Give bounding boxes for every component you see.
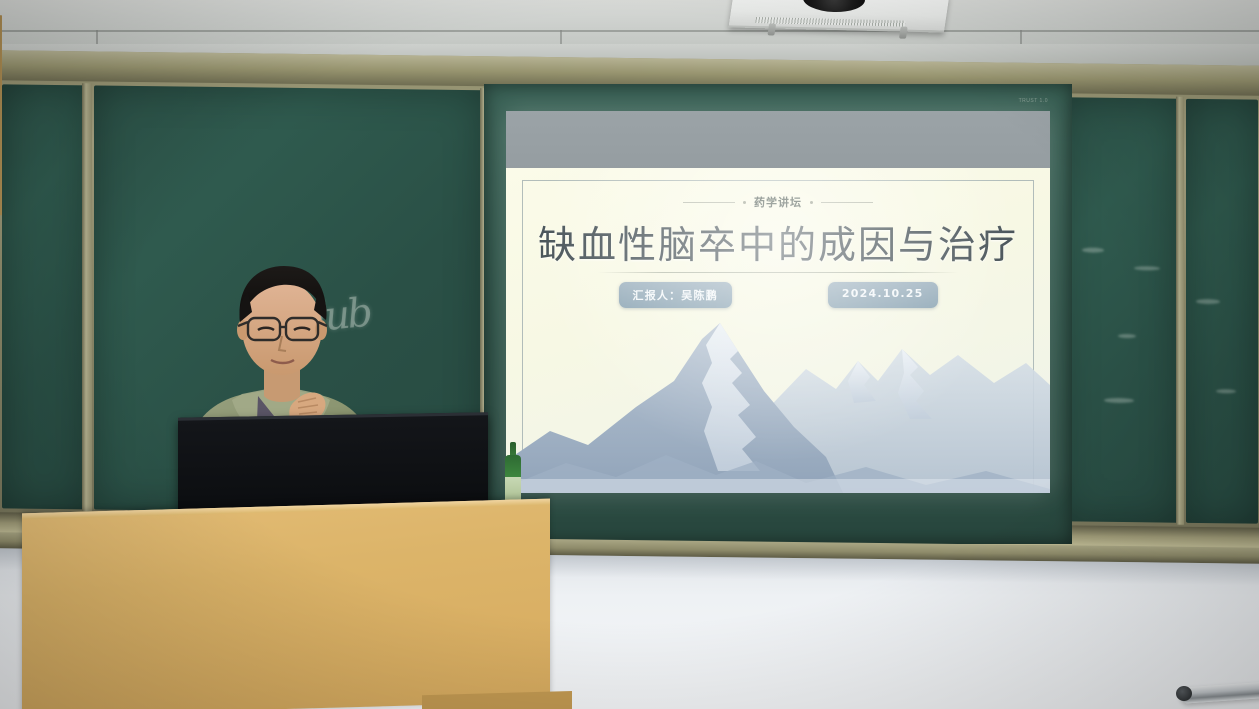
chalk-smudge: [1134, 266, 1160, 270]
blackboard-panel-right: [1060, 97, 1180, 522]
projector-letterbox: [506, 111, 1050, 169]
blackboard-panel-far-right: [1186, 99, 1258, 524]
slide-kicker: 药学讲坛: [506, 194, 1050, 210]
kicker-rule-right: [821, 202, 873, 203]
ceiling: [0, 0, 1259, 48]
presenter-badge: 汇报人：吴陈鹏: [619, 282, 732, 308]
kicker-dot-right: [810, 201, 813, 204]
chalk-smudge: [1104, 398, 1134, 403]
lectern-base: [422, 691, 572, 709]
projector-vent: [755, 17, 905, 27]
slide-badges: 汇报人：吴陈鹏 2024.10.25: [506, 282, 1050, 308]
blackboard-panel-left-narrow: [2, 84, 87, 509]
blackboard-divider: [82, 83, 92, 511]
slide-kicker-text: 药学讲坛: [754, 194, 802, 210]
mountain-illustration: [506, 311, 1050, 493]
lectern[interactable]: [22, 499, 550, 709]
podium-side: [0, 13, 2, 216]
date-badge: 2024.10.25: [828, 282, 938, 308]
projection-surface: 药学讲坛 缺血性脑卒中的成因与治疗 汇报人：吴陈鹏 2024.10.25: [506, 111, 1050, 493]
chalk-smudge: [1118, 334, 1136, 338]
kicker-rule-left: [683, 202, 735, 203]
blackboard-divider: [1176, 97, 1184, 525]
chalk-smudge: [1216, 389, 1236, 393]
screen-watermark-text: TRUST 1.0: [1019, 98, 1048, 104]
slide-title-rule: [598, 272, 958, 273]
chalk-smudge: [1196, 299, 1220, 304]
bottle-label: [505, 477, 521, 501]
projection-screen: TRUST 1.0 药学讲坛 缺血性脑卒中的成因与治疗 汇报人：吴陈鹏 2024…: [484, 84, 1072, 544]
presentation-slide: 药学讲坛 缺血性脑卒中的成因与治疗 汇报人：吴陈鹏 2024.10.25: [506, 168, 1050, 493]
kicker-dot-left: [743, 201, 746, 204]
ceiling-seam: [0, 30, 1259, 32]
classroom-scene: club TRUST 1.0 药学讲坛 缺血性脑卒中的成因与治疗 汇报人：吴陈鹏: [0, 0, 1259, 709]
slide-title: 缺血性脑卒中的成因与治疗: [506, 214, 1050, 269]
chalk-smudge: [1082, 248, 1104, 253]
